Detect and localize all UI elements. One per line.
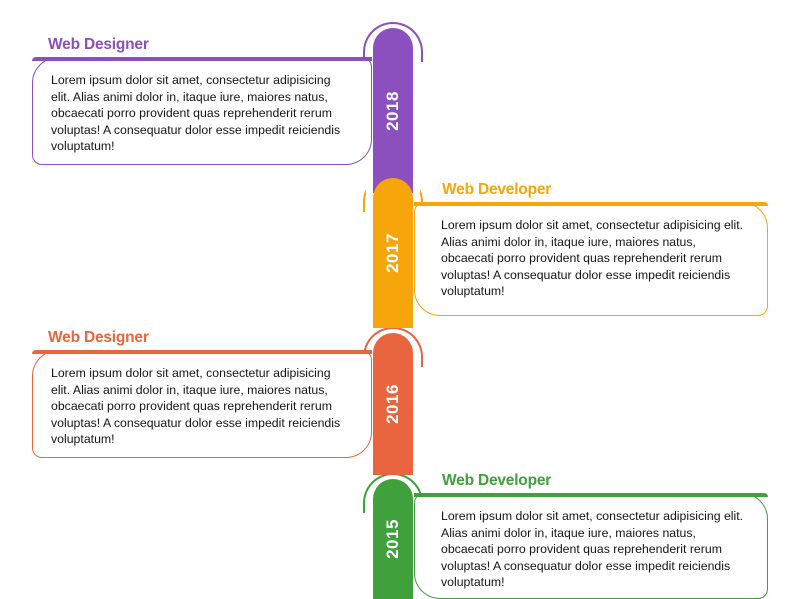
- timeline-year-label-2015: 2015: [383, 519, 403, 559]
- timeline-bar-2015[interactable]: 2015: [373, 479, 413, 599]
- timeline-entry-title-2016: Web Designer: [48, 329, 149, 347]
- timeline-card-accent-bar-2018: [32, 57, 372, 61]
- timeline-year-label-2018: 2018: [383, 91, 403, 131]
- timeline-year-label-2016: 2016: [383, 384, 403, 424]
- timeline-card-text-2017: Lorem ipsum dolor sit amet, consectetur …: [441, 217, 749, 300]
- timeline-bar-2018[interactable]: 2018: [373, 28, 413, 193]
- timeline-card-2018[interactable]: Lorem ipsum dolor sit amet, consectetur …: [32, 57, 372, 165]
- timeline-entry-title-2017: Web Developer: [442, 181, 551, 199]
- timeline-card-text-2018: Lorem ipsum dolor sit amet, consectetur …: [51, 72, 345, 155]
- timeline-year-label-2017: 2017: [383, 233, 403, 273]
- timeline-card-accent-bar-2015: [414, 493, 768, 497]
- timeline-card-2016[interactable]: Lorem ipsum dolor sit amet, consectetur …: [32, 350, 372, 458]
- timeline-infographic: 2018Web DesignerLorem ipsum dolor sit am…: [0, 0, 800, 599]
- timeline-entry-title-2015: Web Developer: [442, 472, 551, 490]
- timeline-card-accent-bar-2017: [414, 202, 768, 206]
- timeline-bar-2016[interactable]: 2016: [373, 333, 413, 475]
- timeline-card-text-2015: Lorem ipsum dolor sit amet, consectetur …: [441, 508, 749, 591]
- timeline-card-text-2016: Lorem ipsum dolor sit amet, consectetur …: [51, 365, 345, 448]
- timeline-entry-title-2018: Web Designer: [48, 36, 149, 54]
- timeline-card-accent-bar-2016: [32, 350, 372, 354]
- timeline-card-2017[interactable]: Lorem ipsum dolor sit amet, consectetur …: [414, 202, 768, 316]
- timeline-card-2015[interactable]: Lorem ipsum dolor sit amet, consectetur …: [414, 493, 768, 599]
- timeline-bar-2017[interactable]: 2017: [373, 178, 413, 328]
